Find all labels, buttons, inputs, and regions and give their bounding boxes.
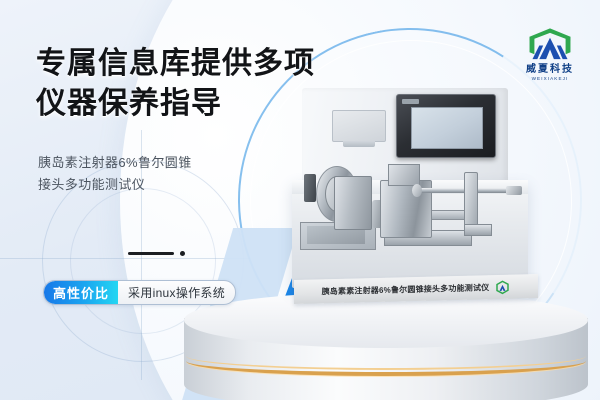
machine-rod-end [506, 186, 522, 195]
machine-mount-plate [332, 110, 386, 142]
headline-line-1: 专属信息库提供多项 [36, 47, 315, 80]
subtitle-line-2: 接头多功能测试仪 [38, 174, 268, 196]
decorative-line-horizontal [0, 258, 250, 259]
brand-logo-small-icon [495, 279, 510, 294]
product-podium [184, 292, 588, 400]
subtitle-line-1: 胰岛素注射器6%鲁尔圆锥 [38, 155, 192, 170]
brand-name-cn: 威夏科技 [526, 65, 574, 75]
podium-gold-highlight [186, 342, 586, 370]
machine-fixture-top [388, 164, 420, 186]
machine-rod-tip [412, 184, 422, 197]
brand-hexagon-icon [525, 26, 575, 64]
hmi-brand-badge [402, 99, 419, 104]
promo-banner: 胰岛素素注射器6%鲁尔圆锥接头多功能测试仪 专属信息库提供多项 仪器保养指导 胰… [0, 0, 600, 400]
machine-bracket-foot [464, 224, 492, 236]
feature-badge: 高性价比 采用inux操作系统 [43, 280, 236, 305]
badge-feature: 采用inux操作系统 [118, 281, 235, 304]
product-name-text: 胰岛素素注射器6%鲁尔圆锥接头多功能测试仪 [322, 282, 490, 297]
brand-logo: 威夏科技 WEIXIAKEJI [513, 26, 587, 88]
machine-hmi-panel [396, 94, 496, 158]
hmi-touchscreen [411, 107, 483, 149]
brand-name-en: WEIXIAKEJI [532, 77, 569, 82]
decorative-dot [180, 251, 185, 256]
decorative-dash [128, 252, 174, 255]
page-title: 专属信息库提供多项 仪器保养指导 [36, 44, 336, 124]
machine-drive-block [334, 176, 372, 230]
headline-line-2: 仪器保养指导 [36, 84, 336, 124]
badge-highlight: 高性价比 [44, 281, 118, 304]
page-subtitle: 胰岛素注射器6%鲁尔圆锥 接头多功能测试仪 [38, 152, 268, 196]
machine-pad [304, 174, 316, 202]
